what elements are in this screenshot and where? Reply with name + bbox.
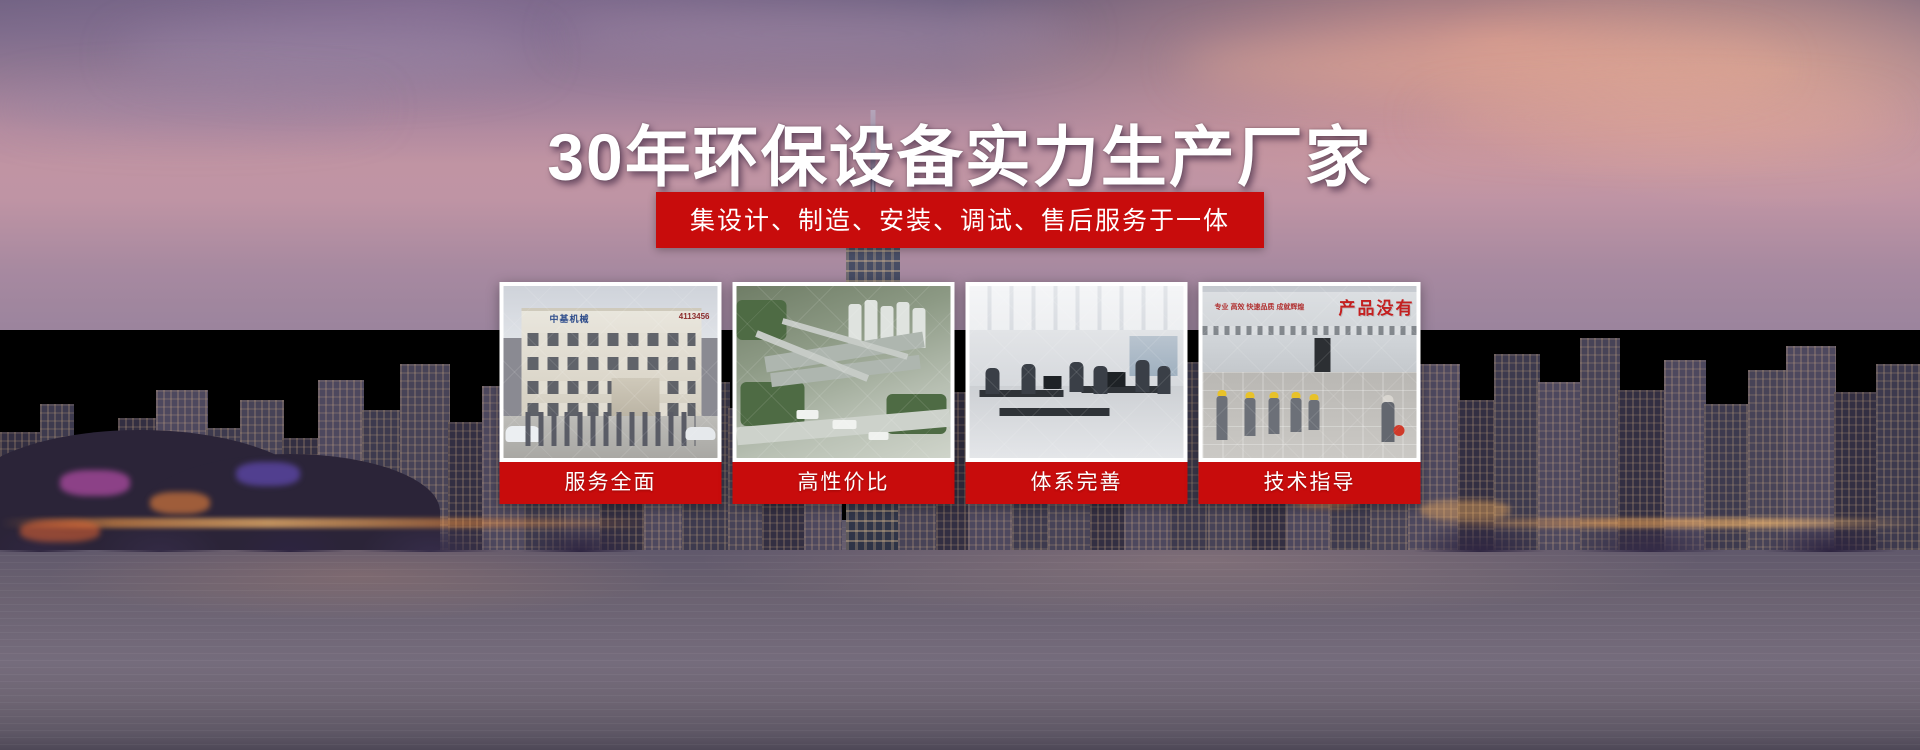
feature-card[interactable]: 高性价比 [733,282,955,504]
card-label: 技术指导 [1199,462,1421,504]
feature-card[interactable]: 产品没有 专业 高效 快速品质 成就辉煌 技术指导 [1199,282,1421,504]
card-photo-factory-yard: 产品没有 专业 高效 快速品质 成就辉煌 [1203,286,1417,458]
feature-card[interactable]: 体系完善 [966,282,1188,504]
card-label: 高性价比 [733,462,955,504]
feature-card-list: 中基机械 4113456 服务全面 [500,282,1421,504]
banner-content: 30年环保设备实力生产厂家 集设计、制造、安装、调试、售后服务于一体 中基机械 … [0,0,1920,750]
building-sign-phone: 4113456 [679,312,710,321]
card-photo-plant-aerial [737,286,951,458]
factory-wall-slogan: 专业 高效 快速品质 成就辉煌 [1215,302,1305,312]
card-photo-office-interior [970,286,1184,458]
card-label: 服务全面 [500,462,722,504]
card-photo-office-building: 中基机械 4113456 [504,286,718,458]
page-title: 30年环保设备实力生产厂家 [0,104,1920,200]
factory-wall-sign: 产品没有 [1339,294,1415,319]
hero-banner: 30年环保设备实力生产厂家 集设计、制造、安装、调试、售后服务于一体 中基机械 … [0,0,1920,750]
feature-card[interactable]: 中基机械 4113456 服务全面 [500,282,722,504]
building-sign-label: 中基机械 [550,312,590,325]
subtitle-badge: 集设计、制造、安装、调试、售后服务于一体 [656,192,1264,248]
card-label: 体系完善 [966,462,1188,504]
